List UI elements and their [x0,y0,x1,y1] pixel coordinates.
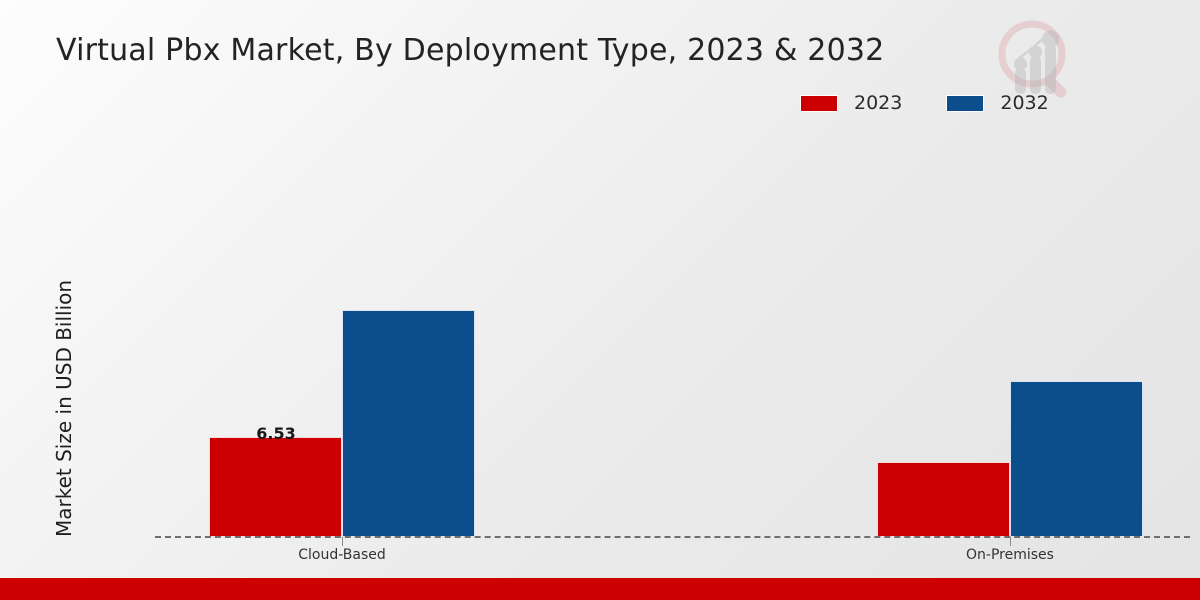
x-axis-baseline [155,536,1190,538]
x-axis-label-cloud-based: Cloud-Based [298,547,386,563]
bar-cloud-based-2032[interactable] [342,310,475,537]
bar-cloud-based-2023[interactable] [209,437,342,537]
bar-on-premises-2023[interactable] [877,462,1010,537]
x-axis-label-on-premises: On-Premises [966,547,1054,563]
plot-area: Cloud-Based On-Premises 6.53 [0,0,1200,600]
footer-accent-bar [0,578,1200,600]
x-axis-tick-cloud-based [342,537,343,546]
bar-on-premises-2032[interactable] [1010,381,1143,537]
chart-figure: Virtual Pbx Market, By Deployment Type, … [0,0,1200,600]
x-axis-tick-on-premises [1010,537,1011,546]
data-label-cloud-based-2023: 6.53 [256,424,295,443]
